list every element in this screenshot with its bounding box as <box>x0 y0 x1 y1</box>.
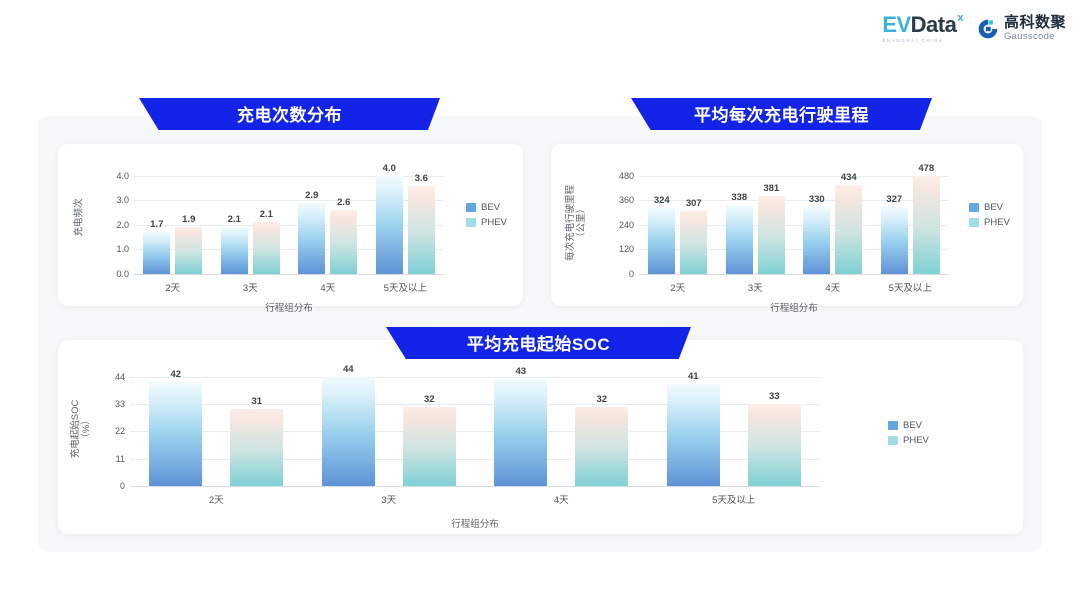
legend-label: BEV <box>984 202 1003 213</box>
y-axis-tick-label: 3.0 <box>95 195 129 205</box>
legend-item[interactable]: PHEV <box>969 217 1010 228</box>
bar-bev <box>667 384 720 486</box>
legend-label: BEV <box>481 202 500 213</box>
legend-item[interactable]: PHEV <box>466 217 507 228</box>
bar-phev <box>253 222 280 274</box>
y-axis-tick-label: 240 <box>600 220 634 230</box>
evdata-tagline: SHANGHAI CHINA <box>882 38 943 43</box>
bar-value-label: 2.6 <box>337 197 350 208</box>
legend-label: PHEV <box>481 217 507 228</box>
bar-value-label: 338 <box>731 192 747 203</box>
chart-title-banner-2: 平均每次充电行驶里程 <box>631 98 932 130</box>
legend-item[interactable]: BEV <box>969 202 1010 213</box>
evdata-main: Data <box>911 14 957 36</box>
y-axis-label: 每次充电行驶里程（公里） <box>566 149 588 297</box>
x-axis-category-label: 4天 <box>825 280 840 294</box>
chart-title-banner-1: 充电次数分布 <box>139 98 440 130</box>
legend-swatch-phev <box>969 218 979 227</box>
x-axis-category-label: 5天及以上 <box>384 280 427 294</box>
bar-phev <box>748 404 801 486</box>
chart-legend: BEVPHEV <box>969 202 1010 228</box>
bar-value-label: 44 <box>343 364 354 375</box>
chart-charging-frequency: 0.01.02.03.04.0充电频次1.71.92天2.12.13天2.92.… <box>58 144 523 306</box>
bar-value-label: 2.1 <box>260 209 273 220</box>
bar-value-label: 42 <box>170 369 181 380</box>
legend-swatch-bev <box>466 203 476 212</box>
legend-item[interactable]: BEV <box>466 202 507 213</box>
x-axis-category-label: 4天 <box>320 280 335 294</box>
y-axis-tick-label: 120 <box>600 244 634 254</box>
bar-value-label: 41 <box>688 371 699 382</box>
gausscode-name-en: Gausscode <box>1004 32 1066 42</box>
bar-value-label: 381 <box>763 183 779 194</box>
bar-phev <box>575 407 628 486</box>
bar-value-label: 33 <box>769 391 780 402</box>
bar-bev <box>221 227 248 274</box>
y-axis-tick-label: 0.0 <box>95 269 129 279</box>
bar-value-label: 31 <box>251 396 262 407</box>
bar-phev <box>408 186 435 274</box>
evdata-x-icon: x <box>957 13 963 24</box>
y-axis-label: 充电起始SOC（%） <box>71 349 93 509</box>
y-axis-tick-label: 4.0 <box>95 171 129 181</box>
y-axis-tick-label: 44 <box>91 372 125 382</box>
bar-value-label: 330 <box>809 194 825 205</box>
legend-label: PHEV <box>903 435 929 446</box>
y-axis-tick-label: 33 <box>91 399 125 409</box>
header-logo-bar: EVDatax SHANGHAI CHINA 高科数聚 Gausscode <box>882 14 1066 43</box>
gridline <box>639 274 949 275</box>
chart-card-average-soc: 011223344充电起始SOC（%）42312天44323天43324天413… <box>58 340 1023 534</box>
evdata-prefix: EV <box>882 14 910 36</box>
x-axis-category-label: 2天 <box>670 280 685 294</box>
bar-value-label: 32 <box>424 394 435 405</box>
legend-swatch-bev <box>969 203 979 212</box>
x-axis-label: 行程组分布 <box>265 300 313 314</box>
x-axis-category-label: 2天 <box>165 280 180 294</box>
bar-value-label: 3.6 <box>415 173 428 184</box>
gridline <box>134 274 444 275</box>
chart-card-charging-frequency: 0.01.02.03.04.0充电频次1.71.92天2.12.13天2.92.… <box>58 144 523 306</box>
x-axis-category-label: 2天 <box>209 492 224 506</box>
y-axis-tick-label: 0 <box>91 481 125 491</box>
gridline <box>130 486 820 487</box>
x-axis-category-label: 3天 <box>381 492 396 506</box>
evdata-logo: EVDatax SHANGHAI CHINA <box>882 14 963 43</box>
evdata-wordmark: EVDatax <box>882 14 963 36</box>
gausscode-text: 高科数聚 Gausscode <box>1004 15 1066 42</box>
bar-phev <box>913 176 940 274</box>
y-axis-label: 充电频次 <box>75 143 86 291</box>
x-axis-label: 行程组分布 <box>770 300 818 314</box>
bar-bev <box>298 203 325 274</box>
bar-bev <box>494 379 547 486</box>
legend-item[interactable]: BEV <box>888 420 929 431</box>
bar-value-label: 1.9 <box>182 214 195 225</box>
bar-value-label: 307 <box>686 198 702 209</box>
chart-title-banner-3: 平均充电起始SOC <box>386 327 691 359</box>
bar-phev <box>330 210 357 274</box>
gausscode-name-cn: 高科数聚 <box>1004 15 1066 30</box>
x-axis-category-label: 5天及以上 <box>712 492 755 506</box>
legend-swatch-bev <box>888 421 898 430</box>
x-axis-category-label: 5天及以上 <box>889 280 932 294</box>
y-axis-tick-label: 0 <box>600 269 634 279</box>
bar-value-label: 2.1 <box>228 214 241 225</box>
gausscode-logo: 高科数聚 Gausscode <box>977 15 1066 42</box>
bar-bev <box>376 176 403 274</box>
bar-value-label: 324 <box>654 195 670 206</box>
legend-item[interactable]: PHEV <box>888 435 929 446</box>
bar-value-label: 434 <box>841 172 857 183</box>
x-axis-label: 行程组分布 <box>451 516 499 530</box>
y-axis-tick-label: 11 <box>91 454 125 464</box>
bar-phev <box>403 407 456 486</box>
x-axis-category-label: 4天 <box>554 492 569 506</box>
bar-bev <box>322 377 375 486</box>
y-axis-tick-label: 480 <box>600 171 634 181</box>
legend-swatch-phev <box>466 218 476 227</box>
bar-phev <box>230 409 283 486</box>
chart-card-average-range: 0120240360480每次充电行驶里程（公里）3243072天3383813… <box>551 144 1023 306</box>
y-axis-tick-label: 1.0 <box>95 244 129 254</box>
bar-value-label: 32 <box>596 394 607 405</box>
gausscode-mark-icon <box>977 18 999 40</box>
bar-bev <box>803 207 830 275</box>
bar-phev <box>175 227 202 274</box>
bar-bev <box>881 207 908 274</box>
chart-legend: BEVPHEV <box>466 202 507 228</box>
gridline <box>130 377 820 378</box>
y-axis-tick-label: 360 <box>600 195 634 205</box>
x-axis-category-label: 3天 <box>748 280 763 294</box>
bar-phev <box>758 196 785 274</box>
bar-value-label: 4.0 <box>383 163 396 174</box>
x-axis-category-label: 3天 <box>243 280 258 294</box>
bar-value-label: 43 <box>515 366 526 377</box>
gridline <box>639 176 949 177</box>
bar-bev <box>648 208 675 274</box>
y-axis-tick-label: 22 <box>91 426 125 436</box>
legend-label: PHEV <box>984 217 1010 228</box>
bar-bev <box>726 205 753 274</box>
bar-value-label: 1.7 <box>150 219 163 230</box>
y-axis-tick-label: 2.0 <box>95 220 129 230</box>
bar-phev <box>680 211 707 274</box>
legend-label: BEV <box>903 420 922 431</box>
legend-swatch-phev <box>888 436 898 445</box>
bar-bev <box>143 232 170 274</box>
chart-average-soc: 011223344充电起始SOC（%）42312天44323天43324天413… <box>58 340 1023 534</box>
bar-bev <box>149 382 202 486</box>
bar-value-label: 2.9 <box>305 190 318 201</box>
chart-average-range: 0120240360480每次充电行驶里程（公里）3243072天3383813… <box>551 144 1023 306</box>
bar-value-label: 327 <box>886 194 902 205</box>
bar-value-label: 478 <box>918 163 934 174</box>
bar-phev <box>835 185 862 274</box>
chart-legend: BEVPHEV <box>888 420 929 446</box>
